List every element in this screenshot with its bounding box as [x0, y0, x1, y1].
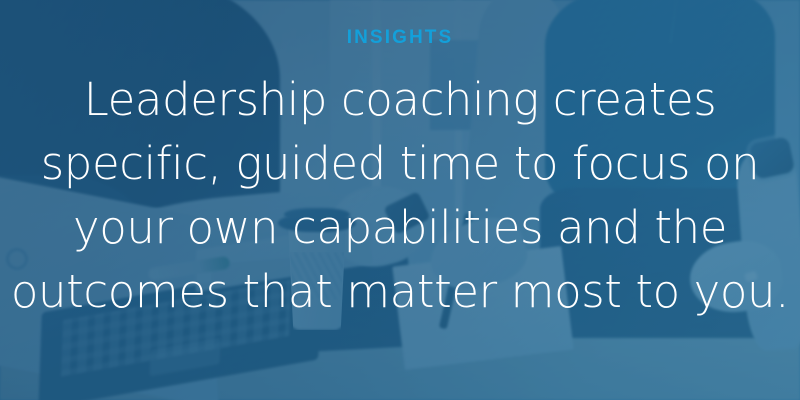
quote-text: Leadership coaching creates specific, gu… — [5, 68, 795, 324]
eyebrow-label-insights: INSIGHTS — [347, 28, 454, 48]
insights-quote-banner: INSIGHTS Leadership coaching creates spe… — [0, 0, 800, 400]
quote-line-4: outcomes that matter most to you. — [5, 260, 795, 324]
quote-line-1: Leadership coaching creates — [5, 68, 795, 132]
quote-line-2: specific, guided time to focus on — [5, 132, 795, 196]
quote-line-3: your own capabilities and the — [5, 196, 795, 260]
banner-content: INSIGHTS Leadership coaching creates spe… — [0, 0, 800, 400]
